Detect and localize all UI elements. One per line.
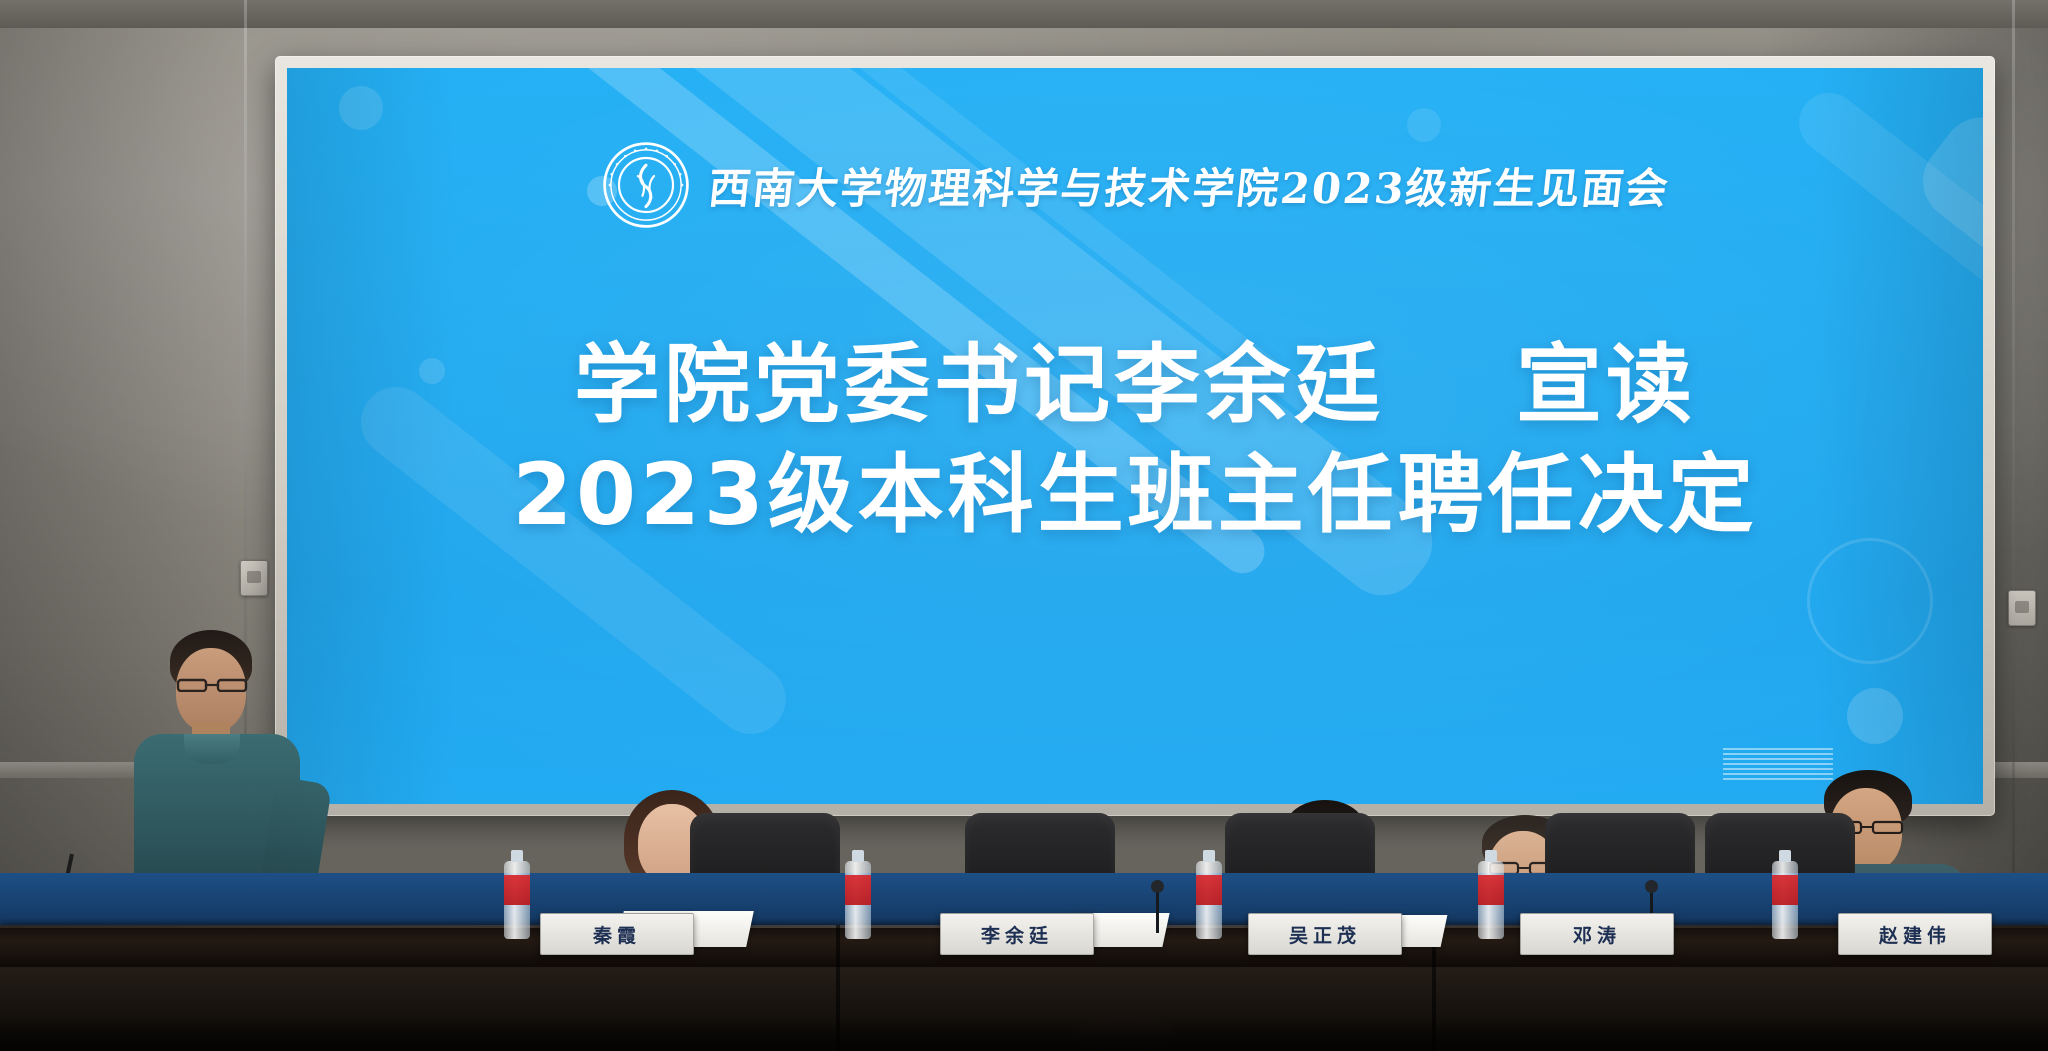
water-bottle-icon-2 xyxy=(845,861,871,939)
bottle-label-3 xyxy=(1196,875,1222,905)
glasses-icon xyxy=(176,678,248,692)
nameplate-4: 邓涛 xyxy=(1520,913,1674,955)
water-bottle-icon-5 xyxy=(1772,861,1798,939)
slide-title-line1-part1: 学院党委书记李余廷 xyxy=(574,335,1384,435)
wall-socket-left xyxy=(240,560,268,596)
table-section-gap-1 xyxy=(836,925,840,1051)
nameplate-1-text: 秦霞 xyxy=(593,921,641,948)
desk-microphone-icon-1 xyxy=(1156,889,1159,933)
projection-screen: 西南大学物理科学与技术学院2023级新生见面会 学院党委书记李余廷 宣读 202… xyxy=(287,68,1983,804)
wall-socket-right xyxy=(2008,590,2036,626)
bottle-label-5 xyxy=(1772,875,1798,905)
slide-title-line-1: 学院党委书记李余廷 宣读 xyxy=(287,330,1983,440)
photo-scene: 会议记录 科技创新 新生入学 物理学科 xyxy=(0,0,2048,1051)
nameplate-2: 李余廷 xyxy=(940,913,1094,955)
slide-dot-1 xyxy=(339,86,383,130)
water-bottle-icon-3 xyxy=(1196,861,1222,939)
wall-upper-trim xyxy=(0,0,2048,28)
nameplate-5: 赵建伟 xyxy=(1838,913,1992,955)
water-bottle-icon-1 xyxy=(504,861,530,939)
bottle-label-2 xyxy=(845,875,871,905)
slide-dot-4 xyxy=(1847,688,1903,744)
slide-title-line1-part2: 宣读 xyxy=(1516,335,1696,435)
nameplate-4-text: 邓涛 xyxy=(1573,921,1621,948)
bottle-label-1 xyxy=(504,875,530,905)
nameplate-1: 秦霞 xyxy=(540,913,694,955)
projection-screen-frame: 西南大学物理科学与技术学院2023级新生见面会 学院党委书记李余廷 宣读 202… xyxy=(275,56,1995,816)
nameplate-5-text: 赵建伟 xyxy=(1879,921,1951,948)
slide-dot-ring-1 xyxy=(1807,538,1933,664)
head-table: 秦霞 李余廷 吴正茂 邓涛 赵建伟 xyxy=(0,821,2048,1051)
slide-dot-5 xyxy=(1407,108,1441,142)
slide-title-line-2: 2023级本科生班主任聘任决定 xyxy=(287,440,1983,550)
slide-header-text: 西南大学物理科学与技术学院2023级新生见面会 xyxy=(705,155,1672,216)
university-crest-icon xyxy=(601,140,691,230)
nameplate-2-text: 李余廷 xyxy=(981,921,1053,948)
nameplate-3-text: 吴正茂 xyxy=(1289,921,1361,948)
nameplate-3: 吴正茂 xyxy=(1248,913,1402,955)
slide-title-block: 学院党委书记李余廷 宣读 2023级本科生班主任聘任决定 xyxy=(287,330,1983,550)
table-front-panel xyxy=(0,967,2048,1051)
water-bottle-icon-4 xyxy=(1478,861,1504,939)
bottle-label-4 xyxy=(1478,875,1504,905)
slide-header: 西南大学物理科学与技术学院2023级新生见面会 xyxy=(287,140,1983,230)
audience-silhouette xyxy=(1075,1017,1175,1051)
